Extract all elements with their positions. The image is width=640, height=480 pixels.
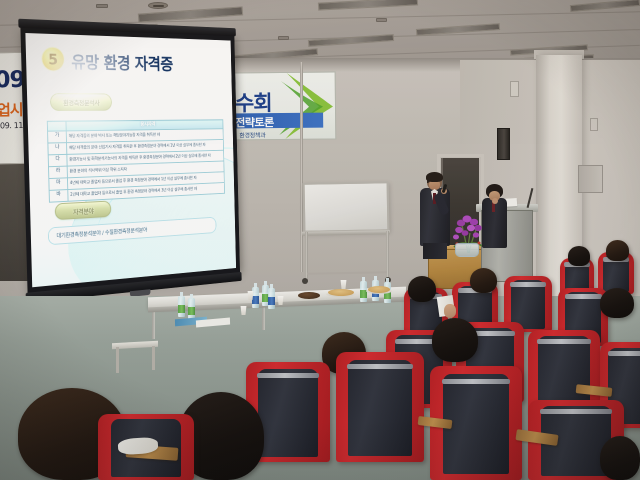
whiteboard-caster (302, 278, 308, 284)
water-bottle (252, 287, 259, 308)
right-banner: 수회 전략토론 환경정책과 (228, 71, 337, 140)
audience-person-head (600, 288, 634, 318)
left-banner-date: 009. 11. (0, 121, 25, 131)
seat-backrest-pad (443, 374, 509, 474)
audience-hand (444, 304, 456, 318)
audience-person-head (606, 240, 629, 261)
row-index: 다 (48, 154, 67, 166)
seat-trim (347, 364, 412, 369)
seat-trim (537, 339, 590, 344)
snack-food (328, 289, 354, 296)
seat-trim (540, 409, 611, 414)
table-index-header (47, 121, 66, 131)
seat-trim (442, 379, 510, 384)
presentation-slide: 5 유망 환경 자격증 환경측정분석사 응시자격 가 해당 자격증의 분야 박사… (25, 33, 236, 287)
screen-frame: 5 유망 환경 자격증 환경측정분석사 응시자격 가 해당 자격증의 분야 박사… (20, 28, 240, 293)
podium-person (481, 184, 508, 256)
water-bottle (188, 298, 195, 319)
water-bottle (178, 296, 185, 317)
audience-person-head (408, 276, 436, 302)
side-table-leg (116, 347, 119, 373)
right-banner-org: 환경정책과 (239, 130, 265, 139)
seat-trim (510, 282, 546, 287)
left-banner-accent-text: 업시 (0, 99, 23, 120)
seat-trim (608, 351, 640, 356)
audience-person-head (568, 246, 590, 266)
seat-backrest-pad (258, 369, 318, 457)
snack-food (368, 286, 390, 293)
smoke-detector (148, 2, 168, 9)
wall-panel (578, 165, 603, 193)
seat-trim (565, 294, 602, 299)
seat-trim (257, 373, 319, 378)
table-body: 가 해당 자격증의 분야 박사 또는 해당분야기능장 자격을 취득한 자 나 해… (48, 128, 225, 201)
mobile-whiteboard (303, 181, 390, 232)
slide-qualification-table: 응시자격 가 해당 자격증의 분야 박사 또는 해당분야기능장 자격을 취득한 … (47, 119, 225, 202)
ceiling-vent (96, 4, 108, 8)
row-index: 바 (49, 189, 68, 202)
presenter-person (418, 173, 452, 257)
right-banner-subtitle: 전략토론 (235, 114, 274, 130)
row-index: 가 (48, 131, 67, 143)
wall-speaker (497, 128, 510, 160)
row-index: 나 (48, 142, 67, 154)
row-index: 라 (48, 166, 67, 178)
flower-vase (455, 243, 479, 257)
seat-backrest-pad (538, 336, 590, 410)
audience-person-head (470, 268, 497, 293)
side-table-leg (152, 346, 155, 370)
row-index: 마 (49, 178, 68, 191)
podium-person-hand (492, 198, 498, 204)
slide-pill-top: 환경측정분석사 (50, 93, 112, 111)
audience-person-head (600, 436, 640, 480)
slide-number-badge: 5 (41, 46, 65, 71)
projection-screen: 5 유망 환경 자격증 환경측정분석사 응시자격 가 해당 자격증의 분야 박사… (20, 28, 240, 293)
snack-food (298, 292, 320, 299)
green-chevron-logo-icon (279, 71, 337, 140)
water-bottle (268, 288, 275, 309)
lecture-hall-photo: 09 업시 009. 11. 수회 전략토론 환경정책과 5 유망 환경 자격증… (0, 0, 640, 480)
presenter-hair (426, 172, 443, 182)
banner-pole (300, 62, 303, 272)
ceiling-vent (278, 36, 289, 40)
wall-mounted-device (510, 81, 519, 97)
audience-person-head (432, 318, 478, 362)
seat-backrest-pad (348, 360, 411, 457)
wall-sensor (590, 118, 598, 131)
ceiling-vent (376, 18, 387, 22)
auditorium-seat (336, 352, 424, 462)
slide-pill-bottom: 자격분야 (55, 201, 112, 221)
slide-title: 유망 환경 자격증 (71, 48, 173, 74)
presenter-legs (423, 243, 447, 259)
whiteboard-leg (386, 231, 389, 281)
